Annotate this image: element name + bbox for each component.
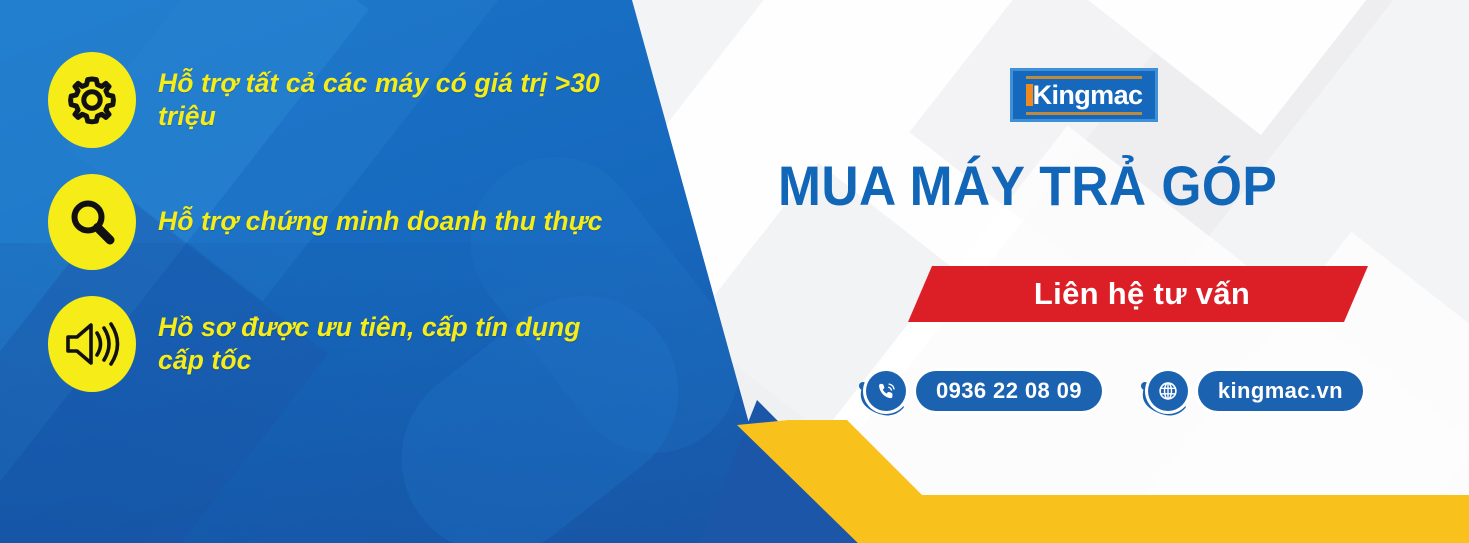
feature-item: Hồ sơ được ưu tiên, cấp tín dụng cấp tốc	[48, 296, 628, 392]
feature-item: Hỗ trợ tất cả các máy có giá trị >30 tri…	[48, 52, 628, 148]
phone-icon	[866, 371, 906, 411]
logo-rule-top	[1026, 76, 1142, 79]
globe-icon	[1148, 371, 1188, 411]
feature-label: Hỗ trợ chứng minh doanh thu thực	[158, 205, 603, 238]
feature-label: Hồ sơ được ưu tiên, cấp tín dụng cấp tốc	[158, 311, 628, 378]
logo-rule-bottom	[1026, 112, 1142, 115]
phone-number: 0936 22 08 09	[936, 378, 1082, 404]
speaker-icon	[48, 296, 136, 392]
page-title: MUA MÁY TRẢ GÓP	[778, 158, 1367, 214]
logo-text: Kingmac	[1026, 82, 1143, 109]
phone-contact[interactable]: 0936 22 08 09	[866, 371, 1102, 411]
search-icon	[48, 174, 136, 270]
gear-icon	[48, 52, 136, 148]
promo-banner: Hỗ trợ tất cả các máy có giá trị >30 tri…	[0, 0, 1469, 543]
feature-label: Hỗ trợ tất cả các máy có giá trị >30 tri…	[158, 67, 628, 134]
website-pill[interactable]: kingmac.vn	[1198, 371, 1363, 411]
kingmac-logo: Kingmac	[1010, 68, 1158, 122]
feature-item: Hỗ trợ chứng minh doanh thu thực	[48, 174, 628, 270]
feature-list: Hỗ trợ tất cả các máy có giá trị >30 tri…	[48, 52, 628, 418]
phone-number-pill[interactable]: 0936 22 08 09	[916, 371, 1102, 411]
website-contact[interactable]: kingmac.vn	[1148, 371, 1363, 411]
contact-list: 0936 22 08 09 kingmac.vn	[866, 371, 1363, 411]
cta-label: Liên hệ tư vấn	[1034, 276, 1250, 312]
website-url: kingmac.vn	[1218, 378, 1343, 404]
contact-cta-banner[interactable]: Liên hệ tư vấn	[908, 266, 1368, 322]
